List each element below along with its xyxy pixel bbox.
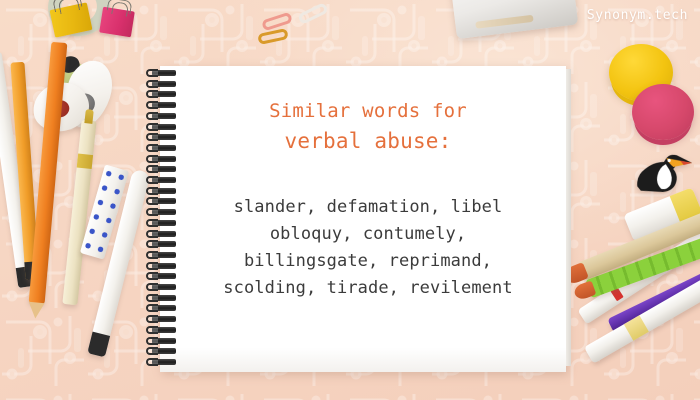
camera-icon bbox=[448, 0, 579, 39]
card-title: Similar words for verbal abuse: bbox=[176, 96, 560, 156]
spiral-coil bbox=[146, 348, 176, 355]
synonym-line: billingsgate, reprimand, bbox=[176, 248, 560, 275]
spiral-coil bbox=[146, 91, 176, 98]
synonym-line: scolding, tirade, revilement bbox=[176, 275, 560, 302]
spiral-coil bbox=[146, 156, 176, 163]
spiral-coil bbox=[146, 338, 176, 345]
spiral-coil bbox=[146, 359, 176, 366]
spiral-coil bbox=[146, 81, 176, 88]
spiral-coil bbox=[146, 209, 176, 216]
spiral-coil bbox=[146, 284, 176, 291]
spiral-coil bbox=[146, 327, 176, 334]
spiral-coil bbox=[146, 177, 176, 184]
spiral-coil bbox=[146, 295, 176, 302]
site-watermark: Synonym.tech bbox=[587, 8, 688, 23]
spiral-coil bbox=[146, 134, 176, 141]
spiral-coil bbox=[146, 231, 176, 238]
macaron-pink-icon bbox=[632, 84, 694, 140]
spiral-coil bbox=[146, 198, 176, 205]
camera-grip-strip bbox=[475, 15, 533, 29]
spiral-coil bbox=[146, 263, 176, 270]
spiral-coil bbox=[146, 305, 176, 312]
spiral-coil bbox=[146, 252, 176, 259]
spiral-coil bbox=[146, 145, 176, 152]
pencil-orange-1-icon bbox=[29, 42, 68, 304]
spiral-coil bbox=[146, 113, 176, 120]
spiral-coil bbox=[146, 188, 176, 195]
spiral-coil bbox=[146, 241, 176, 248]
synonyms-list: slander, defamation, libelobloquy, contu… bbox=[176, 194, 560, 302]
spiral-coil bbox=[146, 316, 176, 323]
spiral-coil bbox=[146, 70, 176, 77]
paper-clip-orange-icon bbox=[257, 28, 289, 45]
spiral-binding bbox=[146, 68, 176, 370]
title-term: verbal abuse: bbox=[176, 126, 560, 156]
paper-clip-white-icon bbox=[297, 2, 329, 25]
title-prefix: Similar words for bbox=[176, 96, 560, 126]
spiral-coil bbox=[146, 273, 176, 280]
paper-clip-pink-icon bbox=[261, 12, 293, 32]
desk-scene: Similar words for verbal abuse: slander,… bbox=[0, 0, 700, 400]
spiral-coil bbox=[146, 102, 176, 109]
spiral-coil bbox=[146, 220, 176, 227]
synonym-line: slander, defamation, libel bbox=[176, 194, 560, 221]
spiral-coil bbox=[146, 166, 176, 173]
synonym-line: obloquy, contumely, bbox=[176, 221, 560, 248]
spiral-coil bbox=[146, 124, 176, 131]
binder-clip-pink-icon bbox=[99, 7, 135, 38]
